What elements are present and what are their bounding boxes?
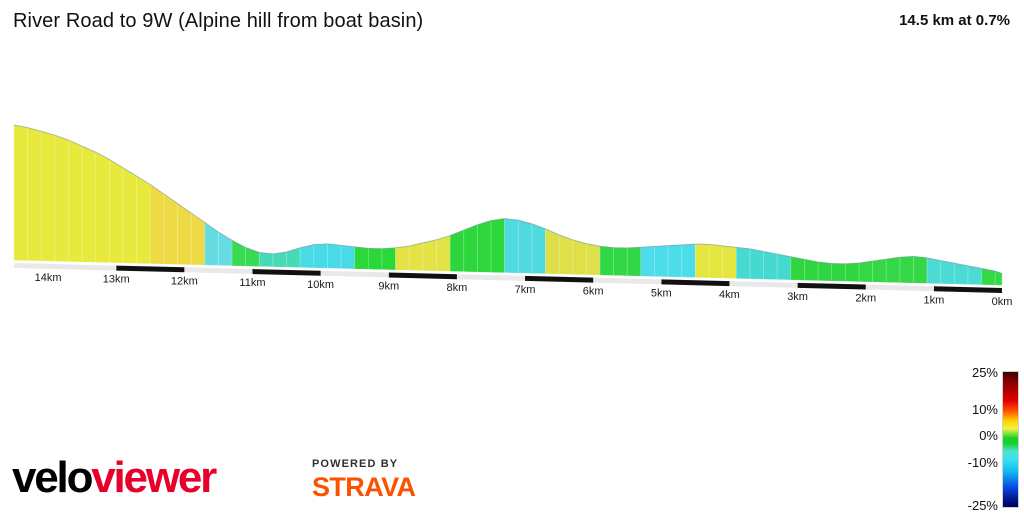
legend-tick-2: 0% — [958, 428, 998, 443]
powered-by-strava: POWERED BY STRAVA — [312, 458, 442, 501]
profile-slice — [69, 140, 83, 262]
profile-slice — [464, 225, 478, 272]
profile-slice — [600, 246, 614, 275]
profile-slice — [450, 230, 464, 271]
profile-slice — [273, 252, 287, 267]
profile-slice — [109, 159, 123, 262]
axis-tick-label: 2km — [855, 293, 876, 305]
legend-gradient-bar — [1002, 371, 1019, 508]
profile-slice — [886, 257, 900, 282]
legend-tick-0: 25% — [958, 365, 998, 380]
profile-slice — [777, 254, 791, 280]
gradient-legend: 25% 10% 0% -10% -25% — [958, 365, 1024, 513]
axis-tick-label: 7km — [515, 284, 536, 296]
profile-slice — [14, 125, 28, 260]
axis-tick-label: 10km — [307, 279, 334, 291]
profile-slice — [736, 247, 750, 278]
elevation-profile-chart[interactable]: 14km13km12km11km10km9km8km7km6km5km4km3k… — [0, 40, 1024, 320]
profile-slice — [873, 259, 887, 282]
profile-slice — [668, 245, 682, 277]
profile-slice — [532, 224, 546, 274]
profile-slice — [900, 256, 914, 282]
profile-slice — [832, 264, 846, 282]
profile-slice — [709, 244, 723, 278]
profile-slice — [941, 261, 955, 284]
profile-slice — [123, 168, 137, 263]
axis-tick-label: 3km — [787, 291, 808, 303]
profile-slice — [287, 248, 301, 267]
axis-tick-label: 1km — [923, 294, 944, 306]
axis-tick-label: 11km — [239, 277, 265, 289]
profile-slice — [178, 204, 192, 265]
axis-tick-label: 0km — [992, 296, 1013, 308]
strava-wordmark: STRAVA — [312, 473, 442, 501]
profile-slice — [695, 244, 709, 278]
profile-slice — [28, 128, 42, 261]
profile-slice — [396, 246, 410, 270]
profile-slice — [341, 245, 355, 268]
logo-viewer-text: viewer — [91, 453, 215, 502]
axis-km-band — [866, 285, 934, 292]
axis-km-band — [252, 269, 320, 276]
profile-slice — [641, 246, 655, 276]
axis-tick-label: 8km — [447, 282, 468, 294]
axis-km-band — [321, 271, 389, 278]
profile-slice — [164, 194, 178, 264]
profile-slice — [627, 247, 641, 276]
profile-slice — [300, 245, 314, 268]
axis-tick-label: 6km — [583, 286, 604, 298]
profile-slice — [682, 244, 696, 277]
axis-tick-label: 13km — [103, 274, 130, 286]
profile-slice — [764, 252, 778, 280]
profile-slice — [559, 235, 573, 274]
profile-slice — [723, 246, 737, 278]
veloviewer-logo[interactable]: veloviewer — [12, 456, 215, 500]
profile-slice — [518, 220, 532, 273]
profile-slice — [614, 248, 628, 276]
profile-slice — [545, 229, 559, 274]
legend-tick-4: -25% — [958, 498, 998, 513]
profile-slice — [927, 258, 941, 284]
profile-slice — [423, 240, 437, 271]
axis-tick-label: 4km — [719, 289, 740, 301]
profile-slice — [750, 249, 764, 279]
profile-slice — [382, 248, 396, 270]
profile-slice — [845, 263, 859, 281]
axis-tick-label: 5km — [651, 287, 672, 299]
axis-tick-label: 9km — [378, 280, 399, 292]
profile-slice — [41, 131, 55, 261]
axis-km-band — [14, 263, 48, 269]
axis-tick-label: 12km — [171, 275, 198, 287]
profile-slice — [327, 244, 341, 268]
profile-slice — [954, 263, 968, 284]
legend-tick-3: -10% — [958, 455, 998, 470]
profile-slice — [477, 221, 491, 272]
profile-slice — [137, 176, 151, 263]
axis-km-band — [934, 286, 1002, 293]
profile-slice — [150, 185, 164, 264]
profile-slice — [96, 152, 110, 262]
axis-km-band — [389, 272, 457, 279]
profile-slice — [791, 257, 805, 280]
profile-slice — [436, 236, 450, 271]
profile-slice — [355, 247, 369, 269]
axis-km-band — [184, 267, 252, 274]
profile-slice — [968, 266, 982, 285]
elevation-profile-svg[interactable]: 14km13km12km11km10km9km8km7km6km5km4km3k… — [0, 40, 1024, 320]
profile-slice — [804, 259, 818, 280]
profile-slice — [859, 261, 873, 282]
axis-km-band — [48, 264, 116, 271]
brand-footer: veloviewer POWERED BY STRAVA — [12, 452, 432, 504]
legend-tick-1: 10% — [958, 402, 998, 417]
profile-slice — [573, 240, 587, 275]
axis-km-band — [798, 283, 866, 290]
profile-slice — [368, 248, 382, 269]
profile-slice — [314, 244, 328, 268]
summary-stat: 14.5 km at 0.7% — [899, 12, 1010, 29]
axis-km-band — [661, 279, 729, 286]
profile-slice — [818, 262, 832, 281]
axis-km-band — [116, 266, 184, 273]
profile-slice — [491, 219, 505, 273]
profile-slice — [409, 243, 423, 270]
profile-slice — [913, 256, 927, 283]
axis-tick-label: 14km — [35, 272, 62, 284]
profile-slice — [82, 146, 96, 262]
profile-slice — [654, 246, 668, 277]
profile-slice — [55, 135, 69, 261]
profile-slice — [505, 219, 519, 273]
axis-km-band — [593, 278, 661, 285]
profile-slice — [586, 244, 600, 275]
axis-km-band — [457, 274, 525, 281]
profile-slice — [205, 222, 219, 265]
profile-slice — [218, 232, 232, 266]
profile-body — [14, 125, 1002, 285]
axis-km-band — [525, 276, 593, 283]
powered-by-label: POWERED BY — [312, 458, 442, 470]
page-title: River Road to 9W (Alpine hill from boat … — [13, 10, 423, 33]
profile-slice — [259, 252, 273, 266]
logo-velo-text: velo — [12, 453, 91, 502]
axis-km-band — [729, 281, 797, 288]
